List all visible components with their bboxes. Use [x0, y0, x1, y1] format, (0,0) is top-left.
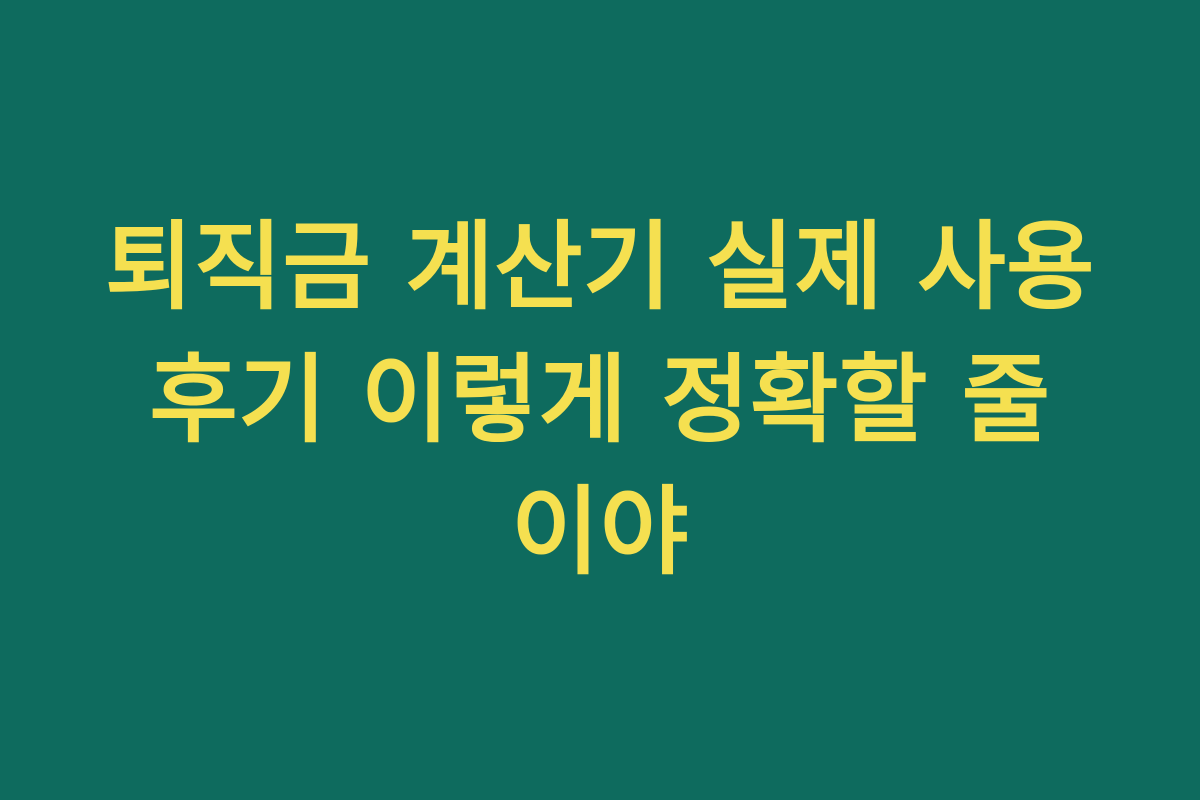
- banner-canvas: 퇴직금 계산기 실제 사용 후기 이렇게 정확할 줄 이야: [0, 0, 1200, 800]
- headline-line-2: 후기 이렇게 정확할 줄: [70, 334, 1130, 466]
- page-title: 퇴직금 계산기 실제 사용 후기 이렇게 정확할 줄 이야: [70, 201, 1130, 598]
- headline-line-1: 퇴직금 계산기 실제 사용: [70, 201, 1130, 333]
- headline-line-3: 이야: [70, 466, 1130, 598]
